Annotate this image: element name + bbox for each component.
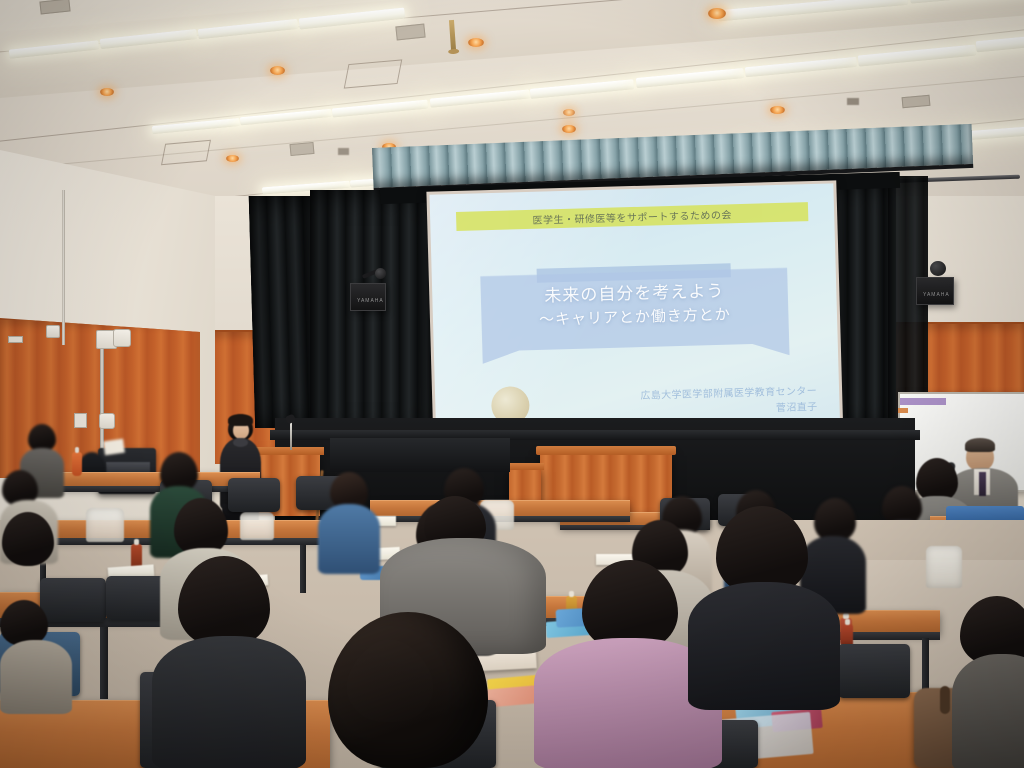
audience-torso: [952, 654, 1024, 768]
audience-torso: [152, 636, 306, 768]
audience-hair: [328, 612, 488, 768]
presenter-neck-collar: [233, 438, 248, 447]
audience-torso: [0, 640, 72, 714]
moderator-hair: [965, 438, 995, 452]
microphone-stand: [290, 420, 292, 450]
backpack-strap: [940, 686, 950, 714]
speaker-brand-right: YAMAHA: [923, 292, 950, 298]
whiteboard-marker-tray: [898, 408, 908, 413]
wall-pole: [62, 190, 65, 345]
lecture-hall-photo: 医学生・研修医等をサポートするための会 未来の自分を考えよう ～キャリアとか働き…: [0, 0, 1024, 768]
wall-outlet: [74, 413, 87, 428]
whiteboard-label: [900, 398, 946, 405]
ceiling-access-panel: [161, 140, 211, 165]
wall-speaker-left: YAMAHA: [350, 283, 386, 311]
speaker-brand-left: YAMAHA: [357, 298, 384, 304]
audience-hair: [178, 556, 270, 648]
audience-member-foreground-left: [152, 556, 304, 768]
ceiling-strip-light: [976, 35, 1024, 53]
slide-banner: 医学生・研修医等をサポートするための会: [456, 202, 808, 231]
table-leg: [100, 627, 108, 699]
wall-switch-plate: [8, 336, 23, 343]
ceiling-downlight: [226, 155, 239, 162]
drink-bottle: [72, 452, 82, 476]
paper-stack: [103, 439, 125, 456]
audience-member-left-edge: [0, 600, 70, 710]
ceiling-downlight: [100, 88, 114, 96]
ceiling-fixture: [847, 98, 859, 105]
equipment-pole: [100, 332, 104, 450]
audience-member-foreground-center: [318, 612, 522, 768]
slide-banner-text: 医学生・研修医等をサポートするための会: [532, 206, 732, 227]
wall-mounted-box: [46, 325, 60, 338]
ceiling-downlight: [770, 106, 785, 114]
stage-curtain-left: [249, 196, 317, 428]
projected-slide: 医学生・研修医等をサポートするための会 未来の自分を考えよう ～キャリアとか働き…: [429, 183, 840, 452]
ceiling-downlight: [708, 8, 726, 19]
ceiling-access-panel: [344, 59, 403, 88]
audience-torso: [318, 504, 380, 574]
audience-member: [318, 472, 380, 568]
audience-member-edge-right: [952, 596, 1024, 768]
av-wall-box: [113, 329, 131, 347]
lectern-side-top: [506, 463, 544, 470]
ceiling-strip-light: [240, 109, 332, 126]
ceiling-vent: [902, 95, 931, 108]
av-wall-box: [99, 413, 115, 429]
plastic-bag: [86, 508, 124, 542]
ceiling-strip-light: [636, 68, 744, 88]
ceiling-strip-light: [858, 44, 977, 66]
stage-skirt: [330, 438, 510, 472]
ceiling-downlight: [468, 38, 484, 47]
plastic-bag: [926, 546, 962, 588]
audience-torso: [688, 582, 840, 710]
ceiling-vent: [39, 0, 70, 15]
lectern-main-top: [536, 446, 676, 455]
speaker-pivot-left: [375, 268, 386, 279]
ceiling-downlight: [270, 66, 285, 75]
ceiling-strip-light: [745, 57, 857, 77]
moderator-necktie: [979, 472, 986, 496]
ceiling-strip-light: [969, 125, 1024, 140]
ceiling-fixture: [338, 148, 349, 155]
presenter-hair-front: [228, 414, 253, 426]
slide-credit-block: 広島大学医学部附属医学教育センター 菅沼直子: [640, 384, 818, 421]
ceiling-downlight: [563, 109, 575, 116]
ceiling-downlight: [562, 125, 576, 133]
ceiling-vent: [290, 142, 315, 156]
ceiling-vent: [395, 24, 425, 41]
stage-curtain-left-inner: [310, 190, 434, 438]
audience-member-foreground-right: [688, 506, 838, 706]
projection-screen: 医学生・研修医等をサポートするための会 未来の自分を考えよう ～キャリアとか働き…: [426, 180, 843, 455]
speaker-pivot-right: [930, 261, 946, 276]
chair-back: [838, 644, 910, 698]
wall-speaker-right: YAMAHA: [916, 277, 954, 305]
